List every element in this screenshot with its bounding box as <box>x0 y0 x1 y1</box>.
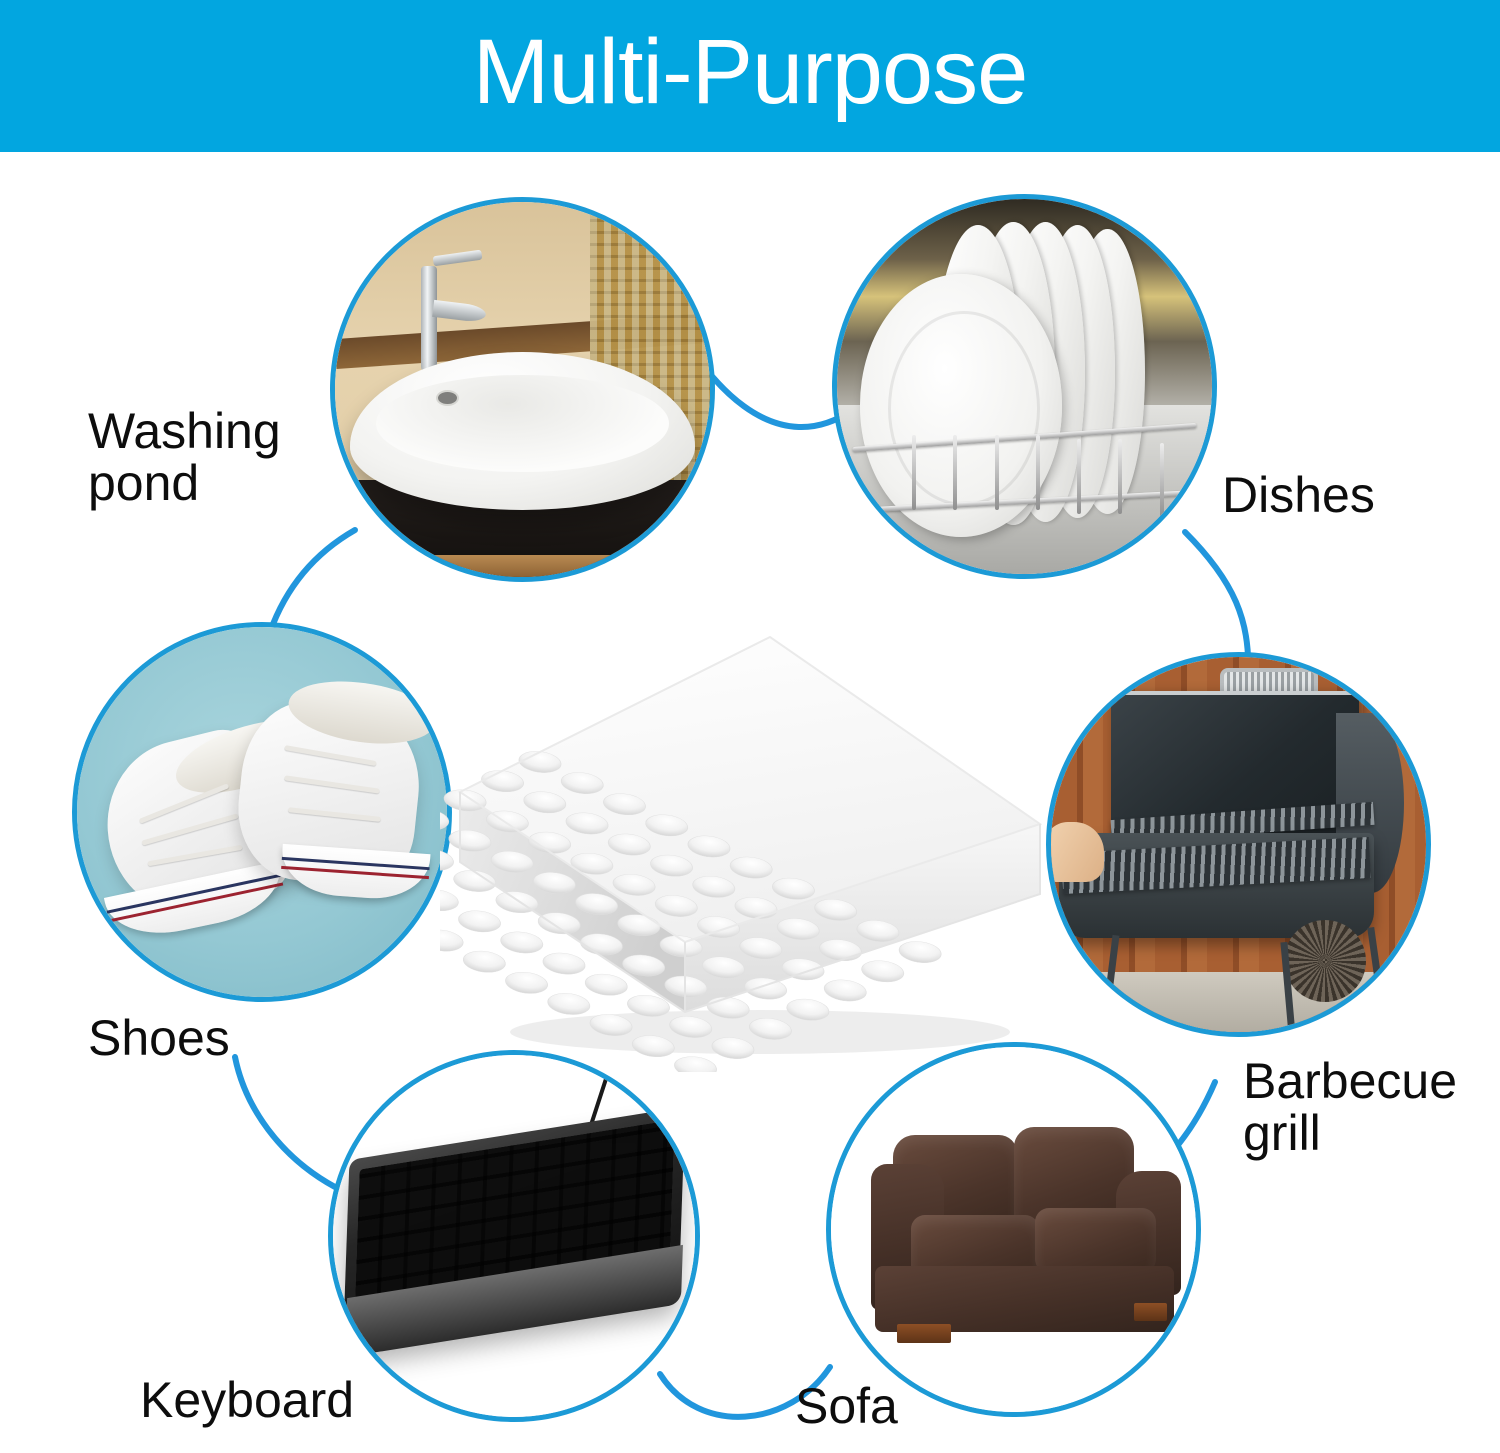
label-washing-pond: Washing pond <box>88 405 338 509</box>
sink-overflow-hole <box>436 390 459 406</box>
sofa-foot-right <box>1134 1303 1167 1321</box>
sink-photo <box>335 202 710 577</box>
use-case-bubble-barbecue-grill[interactable] <box>1046 652 1431 1037</box>
use-case-bubble-sofa[interactable] <box>826 1042 1201 1417</box>
use-case-bubble-keyboard[interactable] <box>328 1050 700 1422</box>
center-product-sponge <box>440 612 1060 1072</box>
dish-rack-tine <box>912 435 916 510</box>
sponge-illustration <box>440 612 1060 1072</box>
dish-rack-tine <box>1077 439 1081 514</box>
label-sofa: Sofa <box>795 1380 1055 1432</box>
keyboard-photo <box>333 1055 695 1417</box>
use-case-bubble-shoes[interactable] <box>72 622 452 1002</box>
use-case-bubble-dishes[interactable] <box>832 194 1217 579</box>
multi-purpose-diagram: Washing pond Dishes <box>0 152 1500 1453</box>
sofa-seat-cushion-right <box>1035 1208 1155 1274</box>
page-title: Multi-Purpose <box>473 26 1028 118</box>
plate-front-1 <box>860 274 1063 537</box>
sofa-base <box>875 1266 1174 1332</box>
dishes-photo <box>837 199 1212 574</box>
grill-photo <box>1051 657 1426 1032</box>
dish-rack-tine <box>1036 435 1040 510</box>
faucet-body-icon <box>421 266 437 371</box>
label-barbecue-grill: Barbecue grill <box>1243 1055 1500 1159</box>
label-shoes: Shoes <box>88 1012 348 1064</box>
label-keyboard: Keyboard <box>140 1374 470 1426</box>
dish-rack-tine <box>1160 443 1164 518</box>
sink-basin-interior <box>376 375 669 473</box>
use-case-bubble-washing-pond[interactable] <box>330 197 715 582</box>
dish-rack-tine <box>1118 439 1122 514</box>
shoes-photo <box>77 627 447 997</box>
sink-wood-shelf <box>373 555 673 578</box>
sofa-foot-left <box>897 1324 952 1342</box>
dish-rack-tine <box>995 435 999 510</box>
label-dishes: Dishes <box>1222 469 1482 521</box>
header-banner: Multi-Purpose <box>0 0 1500 152</box>
dish-rack-tine <box>953 435 957 510</box>
grill-vent-icon <box>1284 920 1367 1003</box>
sofa-photo <box>831 1047 1196 1412</box>
